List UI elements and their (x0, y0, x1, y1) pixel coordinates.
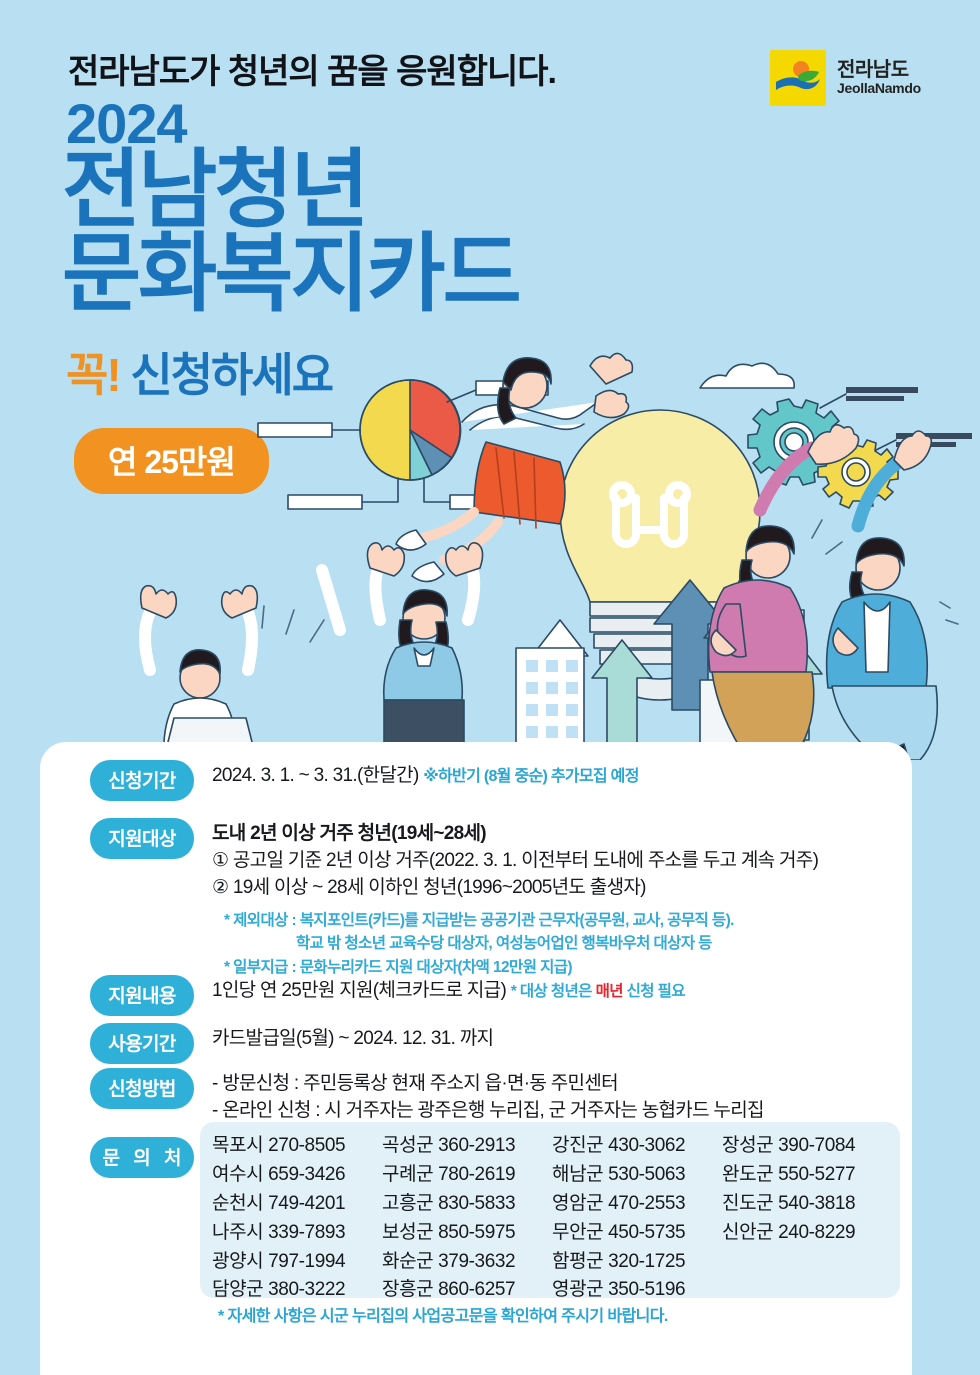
section-label-eligibility: 지원대상 (90, 818, 194, 859)
contact-item: 진도군 540-3818 (722, 1190, 892, 1219)
how-to-apply-line-1: - 방문신청 : 주민등록상 현재 주소지 읍·면·동 주민센터 (212, 1071, 764, 1098)
poster-title-line2: 문화복지카드 (62, 232, 519, 316)
support-note-pre: * 대상 청년은 (511, 983, 592, 1000)
footnote: * 자세한 사항은 시군 누리집의 사업공고문을 확인하여 주시기 바랍니다. (218, 1302, 668, 1326)
section-how-to-apply: 신청방법 - 방문신청 : 주민등록상 현재 주소지 읍·면·동 주민센터 - … (90, 1068, 764, 1125)
contact-item: 장성군 390-7084 (722, 1132, 892, 1161)
contact-item: 여수시 659-3426 (212, 1161, 382, 1190)
eligibility-exclusion-notes: * 제외대상 : 복지포인트(카드)를 지급받는 공공기관 근무자(공무원, 교… (224, 909, 734, 979)
contact-item: 순천시 749-4201 (212, 1190, 382, 1219)
contact-column: 강진군 430-3062 해남군 530-5063 영암군 470-2553 무… (552, 1132, 722, 1305)
support-content-note: * 대상 청년은 매년 신청 필요 (511, 983, 685, 1000)
eligibility-headline: 도내 2년 이상 거주 청년(19세~28세) (212, 821, 818, 848)
usage-period-line: 카드발급일(5월) ~ 2024. 12. 31. 까지 (212, 1026, 493, 1053)
poster-title-line1: 전남청년 (62, 148, 519, 232)
contact-item: 담양군 380-3222 (212, 1276, 382, 1305)
poster-tagline: 전라남도가 청년의 꿈을 응원합니다. (68, 44, 556, 93)
contact-item: 보성군 850-5975 (382, 1219, 552, 1248)
section-body-support-content: 1인당 연 25만원 지원(체크카드로 지급) * 대상 청년은 매년 신청 필… (212, 975, 685, 1005)
contact-item: 완도군 550-5277 (722, 1161, 892, 1190)
support-note-post: 신청 필요 (627, 983, 685, 1000)
eligibility-item-1: ① 공고일 기준 2년 이상 거주(2022. 3. 1. 이전부터 도내에 주… (212, 848, 818, 875)
contact-item: 신안군 240-8229 (722, 1219, 892, 1248)
contact-item: 곡성군 360-2913 (382, 1132, 552, 1161)
contact-column: 곡성군 360-2913 구례군 780-2619 고흥군 830-5833 보… (382, 1132, 552, 1305)
contact-item: 함평군 320-1725 (552, 1248, 722, 1277)
section-support-content: 지원내용 1인당 연 25만원 지원(체크카드로 지급) * 대상 청년은 매년… (90, 975, 685, 1016)
poster-root: 전라남도가 청년의 꿈을 응원합니다. 2024 전남청년 문화복지카드 꼭! … (0, 0, 980, 1375)
eligibility-item-2: ② 19세 이상 ~ 28세 이하인 청년(1996~2005년도 출생자) (212, 875, 818, 902)
application-period-dates: 2024. 3. 1. ~ 3. 31.(한달간) (212, 765, 419, 786)
contact-item: 고흥군 830-5833 (382, 1190, 552, 1219)
person-laptop-icon (141, 586, 266, 760)
contact-columns: 목포시 270-8505 여수시 659-3426 순천시 749-4201 나… (212, 1132, 892, 1305)
section-label-how-to-apply: 신청방법 (90, 1068, 194, 1109)
person-cheering-icon (262, 543, 483, 760)
contact-item: 목포시 270-8505 (212, 1132, 382, 1161)
exclusion-note-1: * 제외대상 : 복지포인트(카드)를 지급받는 공공기관 근무자(공무원, 교… (224, 909, 734, 932)
support-content-main: 1인당 연 25만원 지원(체크카드로 지급) (212, 980, 506, 1001)
logo-mark-icon (770, 50, 826, 106)
contact-item: 장흥군 860-6257 (382, 1276, 552, 1305)
application-period-line: 2024. 3. 1. ~ 3. 31.(한달간) ※하반기 (8월 중순) 추… (212, 763, 639, 790)
logo-wordmark: 전라남도 JeollaNamdo (837, 60, 921, 96)
section-eligibility: 지원대상 도내 2년 이상 거주 청년(19세~28세) ① 공고일 기준 2년… (90, 818, 818, 902)
section-usage-period: 사용기간 카드발급일(5월) ~ 2024. 12. 31. 까지 (90, 1023, 493, 1064)
section-body-application-period: 2024. 3. 1. ~ 3. 31.(한달간) ※하반기 (8월 중순) 추… (212, 760, 639, 790)
section-body-eligibility: 도내 2년 이상 거주 청년(19세~28세) ① 공고일 기준 2년 이상 거… (212, 818, 818, 902)
jeollanamdo-logo: 전라남도 JeollaNamdo (770, 50, 921, 106)
contact-column: 목포시 270-8505 여수시 659-3426 순천시 749-4201 나… (212, 1132, 382, 1305)
exclusion-note-2: 학교 밖 청소년 교육수당 대상자, 여성농어업인 행복바우처 대상자 등 (224, 932, 734, 955)
contact-item: 영광군 350-5196 (552, 1276, 722, 1305)
support-content-line: 1인당 연 25만원 지원(체크카드로 지급) * 대상 청년은 매년 신청 필… (212, 978, 685, 1005)
support-note-red: 매년 (596, 983, 623, 1000)
application-period-note: ※하반기 (8월 중순) 추가모집 예정 (423, 768, 639, 785)
section-body-usage-period: 카드발급일(5월) ~ 2024. 12. 31. 까지 (212, 1023, 493, 1053)
contact-item: 무안군 450-5735 (552, 1219, 722, 1248)
section-label-application-period: 신청기간 (90, 760, 194, 801)
hero-illustration (0, 330, 980, 760)
contact-item: 영암군 470-2553 (552, 1190, 722, 1219)
poster-title: 전남청년 문화복지카드 (62, 148, 519, 317)
contact-item: 강진군 430-3062 (552, 1132, 722, 1161)
logo-name-ko: 전라남도 (837, 60, 921, 81)
contact-item: 해남군 530-5063 (552, 1161, 722, 1190)
contact-item: 화순군 379-3632 (382, 1248, 552, 1277)
section-label-usage-period: 사용기간 (90, 1023, 194, 1064)
contact-item: 나주시 339-7893 (212, 1219, 382, 1248)
section-body-how-to-apply: - 방문신청 : 주민등록상 현재 주소지 읍·면·동 주민센터 - 온라인 신… (212, 1068, 764, 1125)
section-label-contact: 문 의 처 (90, 1137, 194, 1178)
contact-item: 구례군 780-2619 (382, 1161, 552, 1190)
logo-name-en: JeollaNamdo (837, 81, 921, 96)
contact-item: 광양시 797-1994 (212, 1248, 382, 1277)
cloud-icon (700, 363, 794, 388)
section-label-support-content: 지원내용 (90, 975, 194, 1016)
section-application-period: 신청기간 2024. 3. 1. ~ 3. 31.(한달간) ※하반기 (8월 … (90, 760, 639, 801)
how-to-apply-line-2: - 온라인 신청 : 시 거주자는 광주은행 누리집, 군 거주자는 농협카드 … (212, 1098, 764, 1125)
contact-column: 장성군 390-7084 완도군 550-5277 진도군 540-3818 신… (722, 1132, 892, 1305)
